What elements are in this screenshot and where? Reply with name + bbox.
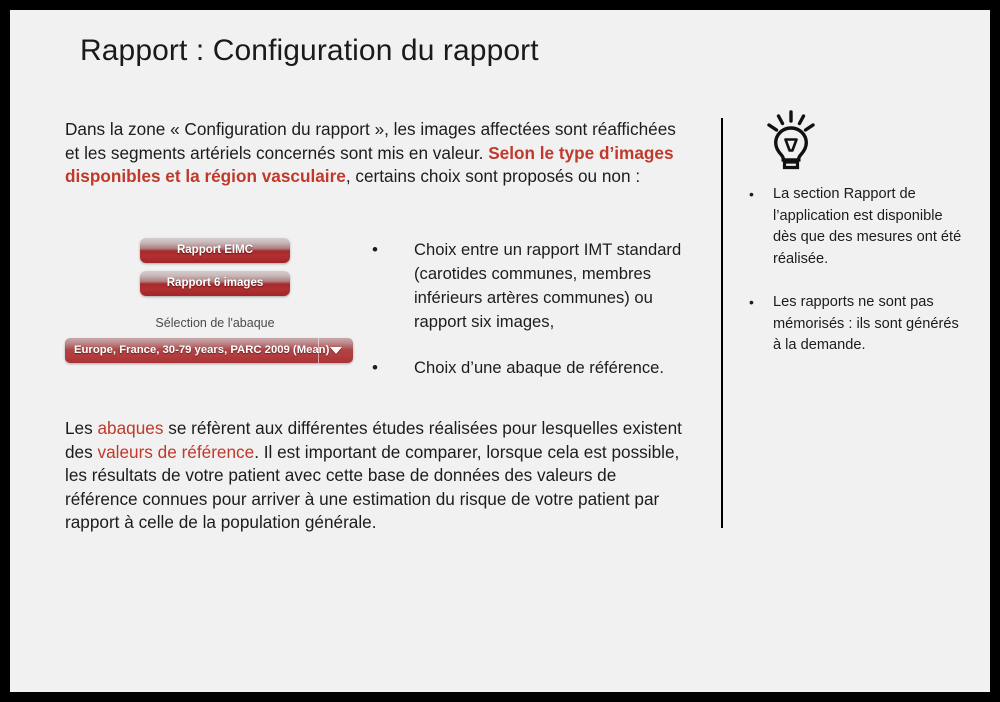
- tip-panel: • La section Rapport de l’application es…: [745, 110, 965, 379]
- abaque-select[interactable]: Europe, France, 30-79 years, PARC 2009 (…: [65, 338, 353, 363]
- list-item: • La section Rapport de l’application es…: [745, 184, 965, 270]
- slide-frame: Rapport : Configuration du rapport Dans …: [0, 0, 1000, 702]
- slide-canvas: Rapport : Configuration du rapport Dans …: [10, 10, 990, 692]
- chevron-down-icon[interactable]: [318, 338, 353, 363]
- closing-paragraph: Les abaques se réfèrent aux différentes …: [65, 417, 690, 535]
- tip-item-text: La section Rapport de l’application est …: [773, 184, 965, 270]
- vertical-divider: [721, 118, 723, 528]
- choice-item-text: Choix entre un rapport IMT standard (car…: [414, 238, 692, 334]
- report-widget-group: Rapport EIMC Rapport 6 images Sélection …: [65, 238, 365, 363]
- tip-item-text: Les rapports ne sont pas mémorisés : ils…: [773, 292, 965, 357]
- closing-paragraph-highlight2: valeurs de référence: [98, 442, 255, 462]
- bullet-glyph: •: [372, 238, 414, 334]
- choice-list: • Choix entre un rapport IMT standard (c…: [372, 238, 692, 402]
- closing-paragraph-highlight1: abaques: [98, 418, 164, 438]
- list-item: • Les rapports ne sont pas mémorisés : i…: [745, 292, 965, 357]
- intro-paragraph: Dans la zone « Configuration du rapport …: [65, 118, 690, 189]
- abaque-select-value: Europe, France, 30-79 years, PARC 2009 (…: [74, 338, 329, 363]
- tip-list: • La section Rapport de l’application es…: [745, 184, 965, 357]
- closing-paragraph-part1: Les: [65, 418, 98, 438]
- abaque-select-label: Sélection de l'abaque: [65, 316, 365, 330]
- bullet-glyph: •: [372, 356, 414, 380]
- list-item: • Choix entre un rapport IMT standard (c…: [372, 238, 692, 334]
- list-item: • Choix d’une abaque de référence.: [372, 356, 692, 380]
- closing-content-column: Les abaques se réfèrent aux différentes …: [65, 417, 690, 535]
- rapport-6-images-button[interactable]: Rapport 6 images: [140, 271, 290, 296]
- intro-paragraph-part2: , certains choix sont proposés ou non :: [346, 166, 640, 186]
- rapport-eimc-button[interactable]: Rapport EIMC: [140, 238, 290, 263]
- left-content-column: Dans la zone « Configuration du rapport …: [65, 118, 690, 189]
- bullet-glyph: •: [745, 184, 773, 270]
- lightbulb-icon: [763, 110, 819, 172]
- choice-item-text: Choix d’une abaque de référence.: [414, 356, 692, 380]
- bullet-glyph: •: [745, 292, 773, 357]
- page-title: Rapport : Configuration du rapport: [80, 34, 539, 68]
- chevron-down-glyph: [330, 347, 342, 354]
